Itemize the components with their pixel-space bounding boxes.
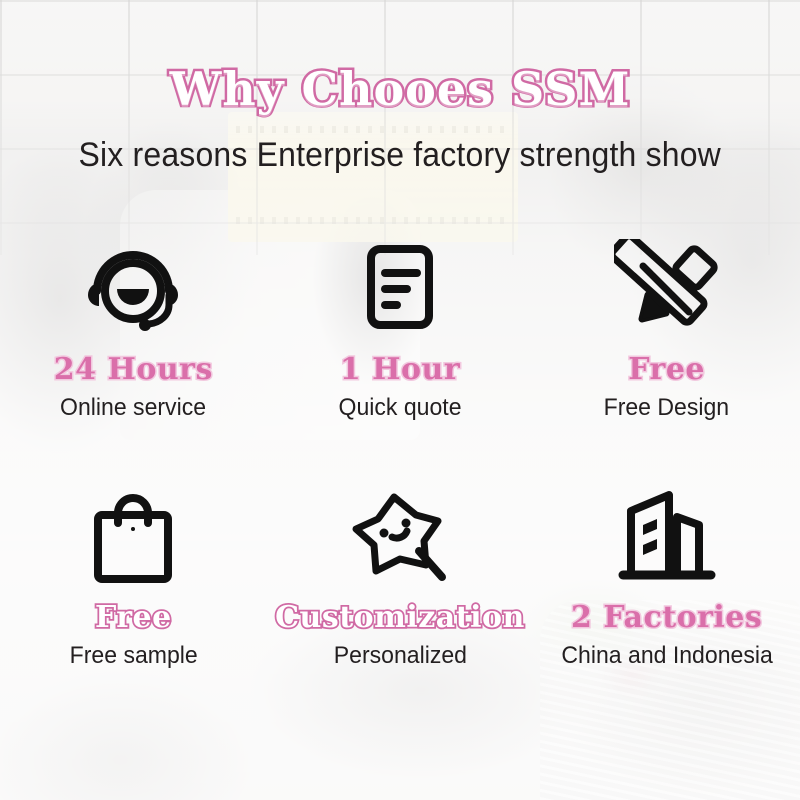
- feature-title: Customization: [275, 602, 525, 634]
- feature-title: Free: [95, 602, 172, 634]
- promo-poster: Why Chooes SSM Six reasons Enterprise fa…: [0, 0, 800, 800]
- feature-title: 2 Factories: [571, 602, 762, 634]
- subheadline-container: Six reasons Enterprise factory strength …: [0, 136, 800, 175]
- feature-subtitle: Free sample: [69, 642, 197, 670]
- magic-wand-star-icon: [346, 480, 454, 598]
- feature-subtitle: Online service: [60, 394, 206, 422]
- feature-item-customization: Customization Personalized: [267, 480, 534, 706]
- feature-title: Free: [628, 354, 705, 386]
- document-quote-icon: [357, 232, 443, 350]
- feature-title: 1 Hour: [340, 354, 460, 386]
- buildings-icon: [615, 480, 719, 598]
- feature-subtitle: Personalized: [333, 642, 466, 670]
- feature-subtitle: Free Design: [604, 394, 730, 422]
- feature-item-2-factories: 2 Factories China and Indonesia: [533, 480, 800, 706]
- headline-container: Why Chooes SSM: [0, 62, 800, 116]
- feature-subtitle: Quick quote: [339, 394, 462, 422]
- feature-subtitle: China and Indonesia: [561, 642, 772, 670]
- feature-title: 24 Hours: [54, 354, 213, 386]
- headset-icon: [81, 232, 185, 350]
- feature-item-free-sample: Free Free sample: [0, 480, 267, 706]
- page-subtitle: Six reasons Enterprise factory strength …: [79, 136, 721, 175]
- ruler-pencil-icon: [614, 232, 720, 350]
- page-title: Why Chooes SSM: [170, 62, 631, 116]
- feature-item-1-hour: 1 Hour Quick quote: [267, 232, 534, 458]
- feature-grid: 24 Hours Online service 1 Hour Quick quo…: [0, 232, 800, 706]
- feature-item-24-hours: 24 Hours Online service: [0, 232, 267, 458]
- shopping-bag-icon: [86, 480, 180, 598]
- feature-item-free-design: Free Free Design: [533, 232, 800, 458]
